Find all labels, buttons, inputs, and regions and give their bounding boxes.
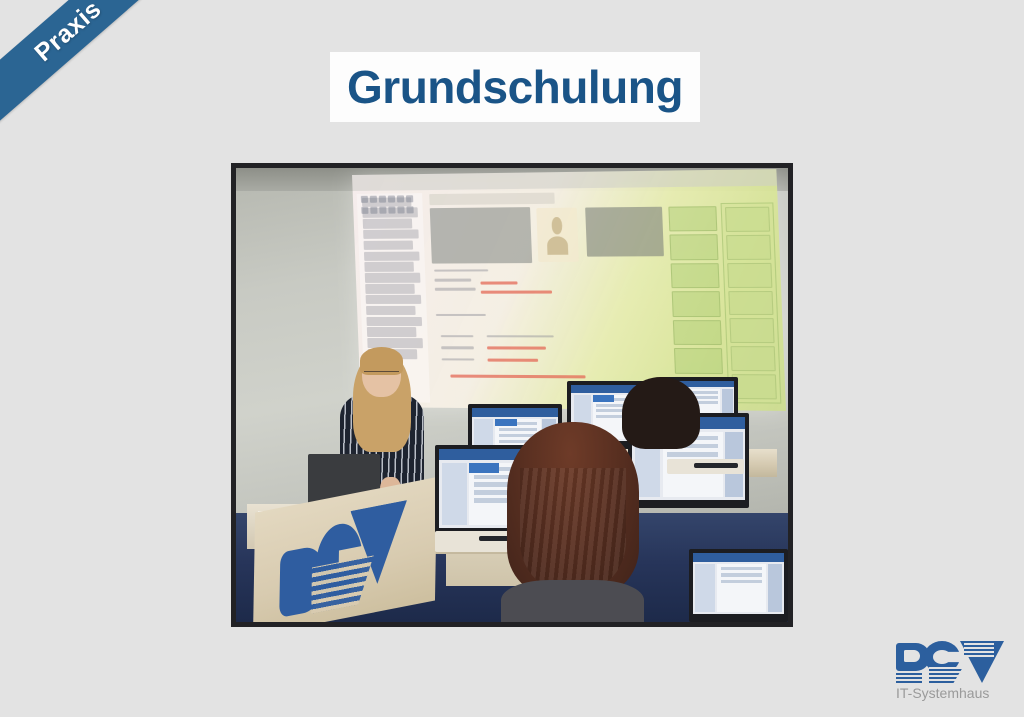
projected-alert-line: [480, 290, 552, 293]
slide-canvas: Praxis Grundschulung: [0, 0, 1024, 717]
toolbar-icon: [406, 206, 413, 213]
projected-nav-item: [367, 327, 416, 337]
projected-text-line: [435, 314, 485, 317]
projected-green-cell: [674, 348, 723, 374]
title-box: Grundschulung: [330, 52, 700, 122]
projected-alert-line: [450, 374, 585, 378]
projected-text-line: [441, 358, 474, 361]
screen-nav: [442, 463, 467, 524]
projected-alert-line: [480, 281, 518, 284]
screen-titlebar: [693, 553, 784, 561]
projected-green-cell: [671, 263, 720, 289]
projected-panel-cell: [730, 318, 775, 343]
patient-avatar-icon: [536, 207, 578, 262]
projected-nav-item: [363, 229, 419, 239]
student-front-shoulder: [501, 580, 645, 622]
projected-right-panel: [721, 203, 782, 403]
projected-text-line: [440, 335, 473, 338]
desk-pcv-logo: [278, 499, 415, 622]
toolbar-icon: [361, 195, 368, 202]
logo-c-stripes: [929, 667, 963, 683]
projected-nav-item: [365, 262, 414, 272]
toolbar-icon: [379, 195, 386, 202]
projected-nav-item: [367, 338, 423, 348]
pen: [694, 463, 738, 468]
toolbar-icon: [388, 195, 395, 202]
projected-nav-item: [364, 240, 413, 250]
projected-nav-item: [364, 251, 420, 261]
projected-green-cell: [672, 291, 721, 316]
projected-patient-bar: [429, 192, 555, 205]
pcv-logo: IT-Systemhaus: [896, 641, 1008, 703]
page-title: Grundschulung: [347, 64, 683, 110]
projected-text-line: [434, 288, 476, 291]
projected-toolbar: [361, 195, 415, 216]
monitor-bottom-right: [689, 549, 788, 622]
projected-nav-item: [365, 284, 414, 294]
logo-subtitle: IT-Systemhaus: [896, 685, 1008, 701]
projected-text-line: [434, 269, 488, 272]
toolbar-icon: [361, 207, 368, 214]
projected-detail-block: [585, 206, 664, 257]
toolbar-icon: [370, 195, 377, 202]
projected-panel-cell: [725, 207, 770, 232]
projected-nav-item: [366, 306, 415, 315]
toolbar-icon: [388, 207, 395, 214]
corner-ribbon-praxis: Praxis: [0, 0, 181, 134]
projected-panel-cell: [731, 346, 776, 371]
student-front-hair: [507, 422, 639, 597]
monitor-screen: [693, 553, 784, 614]
screen-accent: [593, 395, 614, 402]
screen-nav: [695, 564, 715, 611]
logo-v-stripes: [964, 643, 994, 657]
pcv-wordmark: [896, 641, 1008, 683]
photo-frame: CGM MEDISTAR BLACK: [231, 163, 793, 627]
ribbon-label: Praxis: [29, 0, 107, 68]
screen-accent: [469, 463, 498, 472]
projected-green-cell: [670, 234, 719, 260]
screen-titlebar: [472, 408, 558, 416]
projected-text-line: [486, 335, 554, 338]
screen-right-panel: [768, 564, 783, 611]
projected-text-line: [441, 346, 474, 349]
projected-green-column: [669, 206, 725, 403]
projected-info-block: [429, 206, 532, 263]
toolbar-icon: [370, 207, 377, 214]
projected-green-cell: [669, 206, 718, 232]
toolbar-icon: [379, 207, 386, 214]
projected-alert-line: [487, 358, 538, 361]
projected-panel-cell: [729, 290, 774, 315]
projected-text-line: [434, 279, 472, 282]
toolbar-icon: [406, 195, 413, 202]
glasses-icon: [364, 371, 400, 379]
student-front-figure: [501, 422, 645, 622]
screen-content: [717, 564, 765, 611]
logo-p-stripes: [896, 671, 922, 683]
toolbar-icon: [397, 195, 404, 202]
projected-nav-item: [366, 295, 422, 305]
projected-nav-item: [363, 218, 412, 228]
projected-nav-item: [365, 273, 421, 283]
projected-alert-line: [487, 347, 546, 350]
projected-green-cell: [673, 320, 722, 345]
toolbar-icon: [397, 206, 404, 213]
projected-panel-cell: [728, 263, 773, 288]
person-glyph: [545, 215, 570, 254]
projected-panel-cell: [726, 235, 771, 260]
projected-panel-cell: [732, 374, 777, 399]
logo-letter-p-counter: [904, 650, 920, 662]
training-room-photo: CGM MEDISTAR BLACK: [236, 168, 788, 622]
projected-nav-item: [367, 316, 423, 325]
